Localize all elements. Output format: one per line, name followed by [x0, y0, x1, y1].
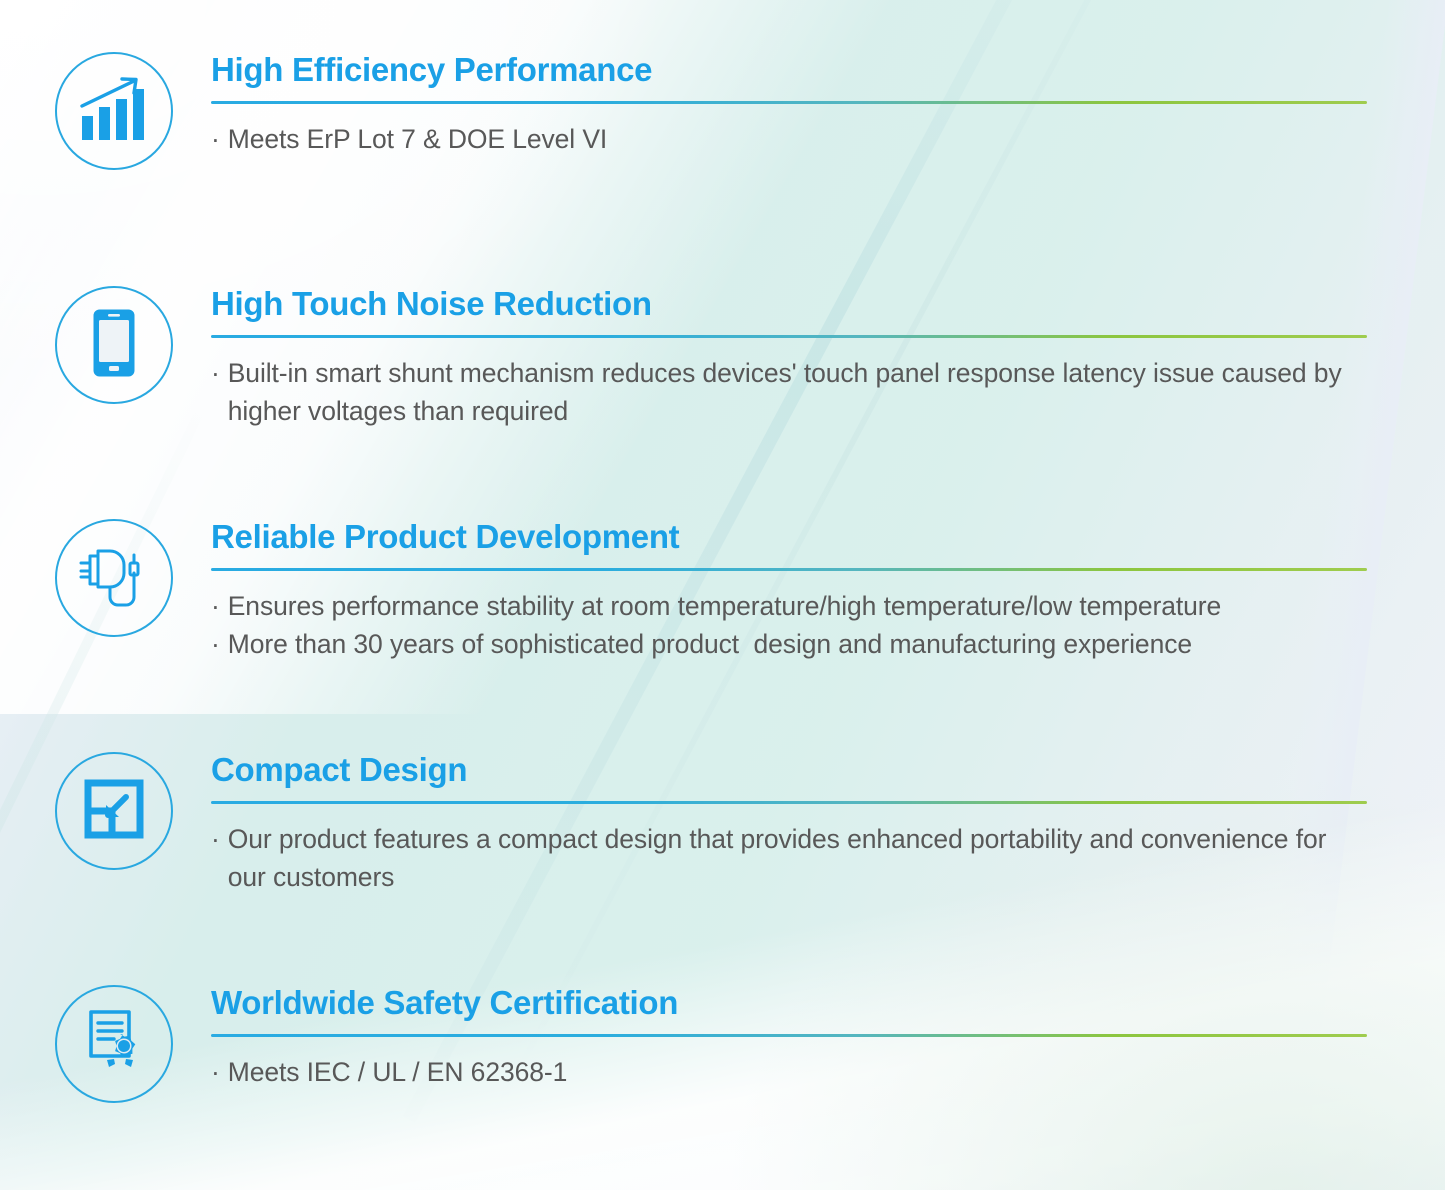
bar-chart-growth-icon	[78, 76, 150, 147]
bullet-text: Built-in smart shunt mechanism reduces d…	[228, 354, 1371, 430]
bullet-text: Ensures performance stability at room te…	[228, 587, 1221, 625]
feature-bullets: · Our product features a compact design …	[211, 820, 1371, 896]
feature-title: High Touch Noise Reduction	[211, 286, 1371, 322]
feature-title: Compact Design	[211, 752, 1371, 788]
feature-item-compact-design: Compact Design · Our product features a …	[55, 752, 1371, 896]
feature-bullet: · Our product features a compact design …	[211, 820, 1371, 896]
feature-title: High Efficiency Performance	[211, 52, 1371, 88]
bullet-text: More than 30 years of sophisticated prod…	[228, 625, 1192, 663]
feature-icon-badge	[55, 752, 173, 870]
feature-bullets: · Meets IEC / UL / EN 62368-1	[211, 1053, 1371, 1091]
feature-bullets: · Built-in smart shunt mechanism reduces…	[211, 354, 1371, 430]
feature-bullet: · Ensures performance stability at room …	[211, 587, 1371, 625]
bullet-text: Our product features a compact design th…	[228, 820, 1371, 896]
bullet-marker: ·	[211, 354, 220, 392]
feature-bullet: · Built-in smart shunt mechanism reduces…	[211, 354, 1371, 430]
feature-title: Reliable Product Development	[211, 519, 1371, 555]
smartphone-icon	[92, 308, 136, 383]
feature-body: High Efficiency Performance · Meets ErP …	[211, 52, 1371, 158]
feature-body: Worldwide Safety Certification · Meets I…	[211, 985, 1371, 1091]
feature-divider	[211, 101, 1367, 104]
compress-arrow-icon	[82, 777, 146, 846]
feature-divider	[211, 568, 1367, 571]
feature-item-high-touch-noise-reduction: High Touch Noise Reduction · Built-in sm…	[55, 286, 1371, 430]
feature-icon-badge	[55, 286, 173, 404]
feature-body: High Touch Noise Reduction · Built-in sm…	[211, 286, 1371, 430]
feature-bullets: · Meets ErP Lot 7 & DOE Level VI	[211, 120, 1371, 158]
bullet-marker: ·	[211, 120, 220, 158]
bullet-marker: ·	[211, 1053, 220, 1091]
feature-icon-badge	[55, 52, 173, 170]
bullet-marker: ·	[211, 820, 220, 858]
feature-body: Compact Design · Our product features a …	[211, 752, 1371, 896]
feature-bullet: · Meets ErP Lot 7 & DOE Level VI	[211, 120, 1371, 158]
bullet-text: Meets ErP Lot 7 & DOE Level VI	[228, 120, 607, 158]
bullet-marker: ·	[211, 587, 220, 625]
feature-divider	[211, 1034, 1367, 1037]
feature-icon-badge	[55, 519, 173, 637]
feature-icon-badge	[55, 985, 173, 1103]
feature-item-worldwide-safety-certification: Worldwide Safety Certification · Meets I…	[55, 985, 1371, 1103]
feature-bullet: · Meets IEC / UL / EN 62368-1	[211, 1053, 1371, 1091]
feature-list: High Efficiency Performance · Meets ErP …	[0, 0, 1445, 1190]
feature-divider	[211, 801, 1367, 804]
bullet-marker: ·	[211, 625, 220, 663]
certificate-award-icon	[81, 1008, 147, 1081]
feature-bullet: · More than 30 years of sophisticated pr…	[211, 625, 1371, 663]
power-adapter-icon	[74, 543, 154, 614]
feature-bullets: · Ensures performance stability at room …	[211, 587, 1371, 663]
feature-title: Worldwide Safety Certification	[211, 985, 1371, 1021]
bullet-text: Meets IEC / UL / EN 62368-1	[228, 1053, 568, 1091]
feature-divider	[211, 335, 1367, 338]
feature-item-reliable-product-development: Reliable Product Development · Ensures p…	[55, 519, 1371, 663]
feature-body: Reliable Product Development · Ensures p…	[211, 519, 1371, 663]
feature-item-high-efficiency-performance: High Efficiency Performance · Meets ErP …	[55, 52, 1371, 170]
